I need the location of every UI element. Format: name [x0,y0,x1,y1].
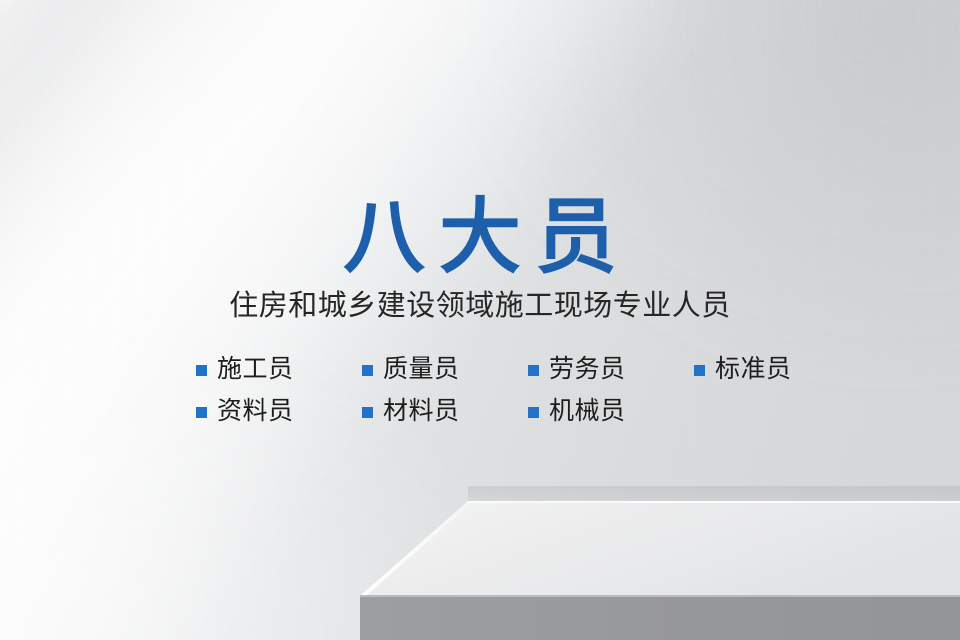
role-label: 施工员 [217,354,294,384]
square-bullet-icon [694,365,705,376]
role-label: 标准员 [715,354,792,384]
square-bullet-icon [196,407,207,418]
page-subtitle: 住房和城乡建设领域施工现场专业人员 [0,286,960,324]
square-bullet-icon [362,365,373,376]
role-label: 机械员 [549,396,626,426]
role-label: 劳务员 [549,354,626,384]
role-item-cailiaoyuan[interactable]: 材料员 [362,396,528,426]
square-bullet-icon [362,407,373,418]
role-label: 材料员 [383,396,460,426]
role-item-jixieyuan[interactable]: 机械员 [528,396,694,426]
role-item-zhiliangyuan[interactable]: 质量员 [362,354,528,384]
page-title: 八大员 [0,190,960,286]
banner-canvas: 八大员 住房和城乡建设领域施工现场专业人员 施工员 质量员 劳务员 [0,0,960,640]
role-row-2: 资料员 材料员 机械员 [196,390,796,432]
role-label: 质量员 [383,354,460,384]
role-item-laowuyuan[interactable]: 劳务员 [528,354,694,384]
role-item-shigongyuan[interactable]: 施工员 [196,354,362,384]
role-row-1: 施工员 质量员 劳务员 标准员 [196,348,796,390]
role-list: 施工员 质量员 劳务员 标准员 资料员 [196,348,796,432]
square-bullet-icon [196,365,207,376]
role-label: 资料员 [217,396,294,426]
square-bullet-icon [528,407,539,418]
square-bullet-icon [528,365,539,376]
role-item-ziliaoyuan[interactable]: 资料员 [196,396,362,426]
role-item-biaozhunyuan[interactable]: 标准员 [694,354,860,384]
